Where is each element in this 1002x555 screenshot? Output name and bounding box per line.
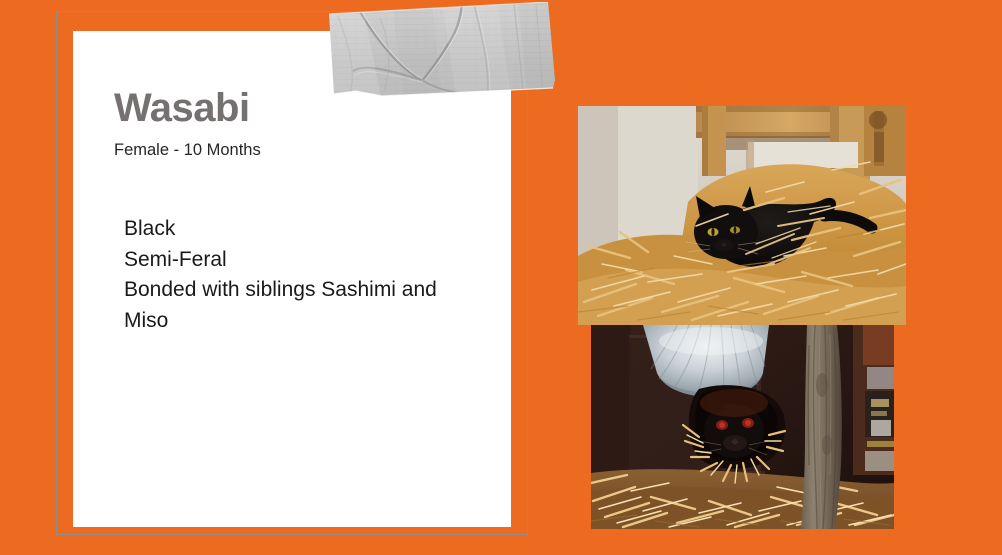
cat-in-shelter-photo bbox=[591, 325, 894, 529]
body-line-bonded: Bonded with siblings Sashimi and Miso bbox=[124, 275, 484, 336]
body-line-temperament: Semi-Feral bbox=[124, 245, 484, 276]
cat-in-straw-photo bbox=[578, 106, 906, 325]
body-line-color: Black bbox=[124, 214, 484, 245]
card-subtitle: Female - 10 Months bbox=[114, 142, 261, 159]
card-body: Black Semi-Feral Bonded with siblings Sa… bbox=[124, 214, 484, 336]
page-title: Wasabi bbox=[114, 88, 250, 128]
slide-canvas: Wasabi Female - 10 Months Black Semi-Fer… bbox=[0, 0, 1002, 555]
info-card: Wasabi Female - 10 Months Black Semi-Fer… bbox=[73, 31, 511, 527]
